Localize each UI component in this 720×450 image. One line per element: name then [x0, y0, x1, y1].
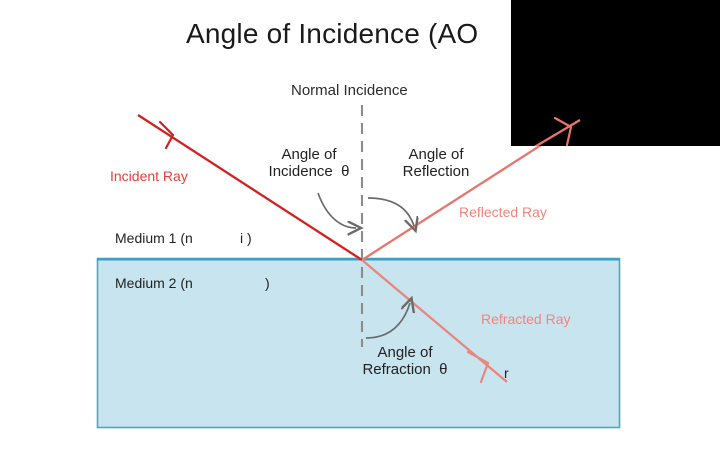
reflected-ray-label: Reflected Ray [459, 205, 547, 221]
angle-of-incidence-arc [318, 193, 356, 228]
normal-incidence-label: Normal Incidence [291, 83, 408, 100]
page-title: Angle of Incidence (AO [186, 18, 478, 49]
angle-of-reflection-label: Angle of Reflection [381, 147, 491, 181]
medium1-subscript: i ) [240, 231, 252, 247]
incident-ray-arrowhead [160, 122, 173, 148]
angle-of-refraction-subscript: r [504, 366, 509, 382]
incident-ray-label: Incident Ray [110, 169, 188, 185]
refracted-ray-label: Refracted Ray [481, 312, 570, 328]
angle-of-incidence-label: Angle of Incidence θ [255, 147, 363, 181]
diagram-canvas: Angle of Incidence (AO Normal Incidence … [0, 0, 720, 450]
medium2-label: Medium 2 (n [115, 276, 193, 292]
angle-of-reflection-arc [368, 198, 414, 226]
occluded-reflected-ray-segment [511, 0, 720, 146]
medium2-subscript: ) [265, 276, 270, 292]
angle-of-refraction-label: Angle of Refraction θ [345, 345, 465, 379]
reflected-ray-arrowhead [555, 118, 571, 145]
medium1-label: Medium 1 (n [115, 231, 193, 247]
